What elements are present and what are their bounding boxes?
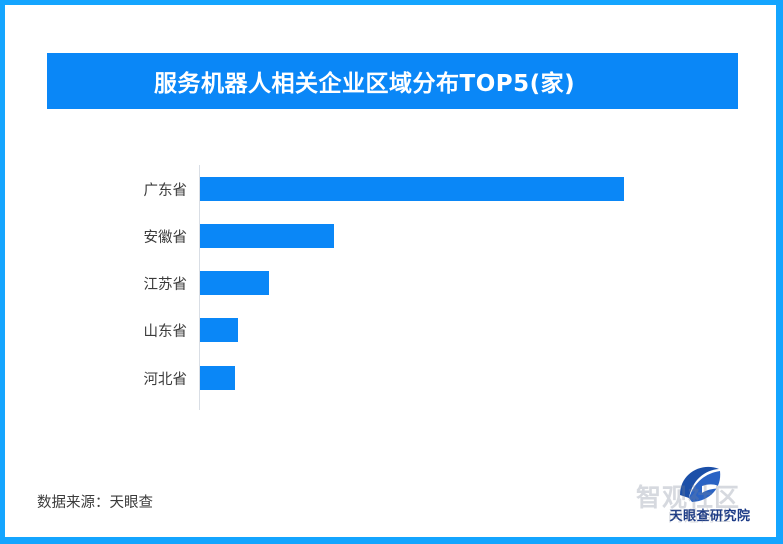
frame-border-bottom bbox=[0, 537, 783, 544]
bar-row: 河北省 bbox=[0, 366, 783, 390]
title-band: 服务机器人相关企业区域分布TOP5(家) bbox=[47, 53, 738, 109]
watermark-subtext: 问道商业 bbox=[668, 505, 732, 526]
bar-category-label: 安徽省 bbox=[37, 226, 187, 247]
bar-row: 江苏省 bbox=[0, 271, 783, 295]
bar-category-label: 山东省 bbox=[37, 320, 187, 341]
bar-chart: 广东省安徽省江苏省山东省河北省 bbox=[0, 155, 783, 410]
bar-category-label: 江苏省 bbox=[37, 273, 187, 294]
bar-row: 广东省 bbox=[0, 177, 783, 201]
frame-border-top bbox=[0, 0, 783, 5]
page-title: 服务机器人相关企业区域分布TOP5(家) bbox=[47, 64, 575, 98]
bar-row: 山东省 bbox=[0, 318, 783, 342]
bar-value bbox=[200, 177, 624, 201]
bar-value bbox=[200, 318, 238, 342]
chart-page: 服务机器人相关企业区域分布TOP5(家) 广东省安徽省江苏省山东省河北省 数据来… bbox=[0, 0, 783, 544]
bar-value bbox=[200, 224, 334, 248]
bar-category-label: 河北省 bbox=[37, 368, 187, 389]
data-source-note: 数据来源：天眼查 bbox=[37, 491, 153, 512]
bar-value bbox=[200, 366, 235, 390]
bar-category-label: 广东省 bbox=[37, 179, 187, 200]
bar-value bbox=[200, 271, 269, 295]
bar-row: 安徽省 bbox=[0, 224, 783, 248]
